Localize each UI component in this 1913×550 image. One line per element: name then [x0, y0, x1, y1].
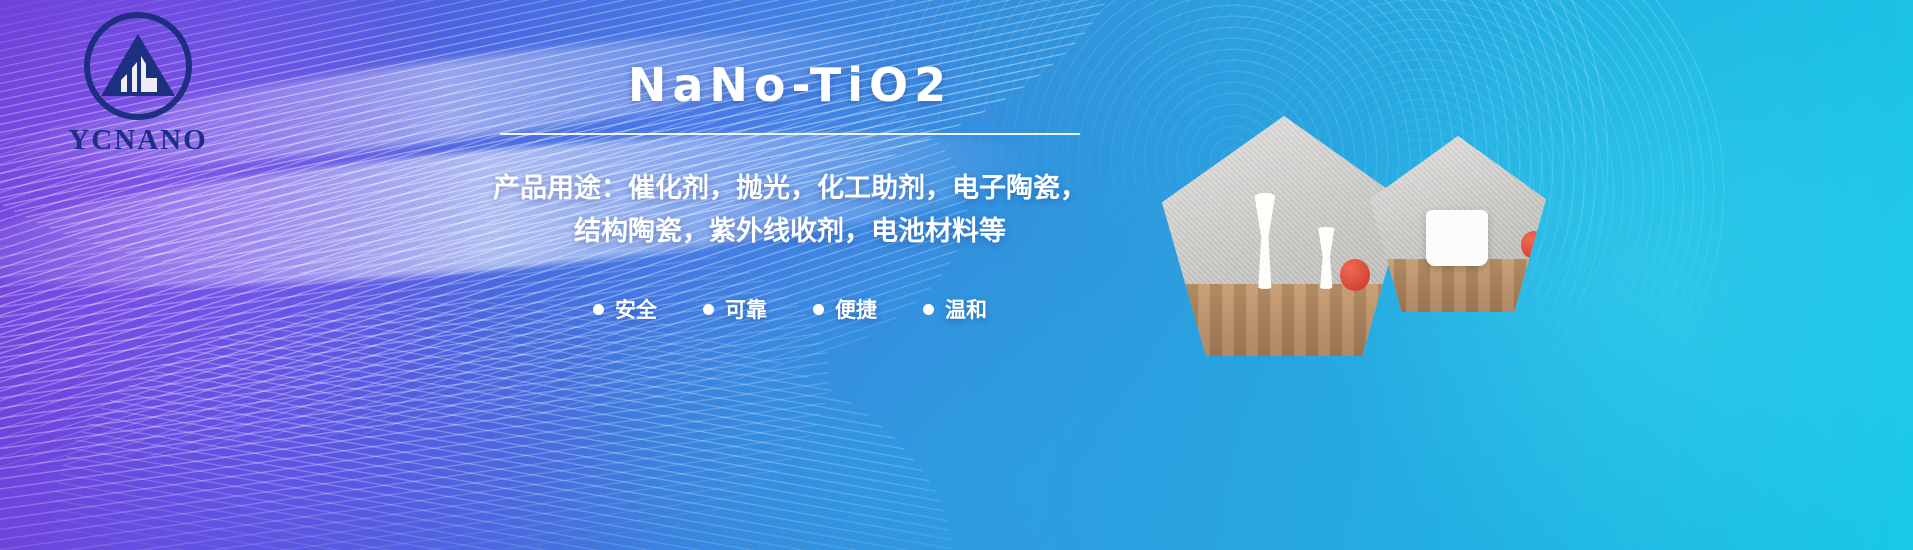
photo-floor [1370, 259, 1546, 312]
ceramic-jar [1426, 210, 1488, 266]
triangle-mountain-emblem-icon [101, 34, 175, 96]
feature-label: 可靠 [725, 294, 767, 324]
brand-name: YCNANO [48, 124, 228, 157]
dot-icon [593, 304, 604, 315]
description-line-2: 结构陶瓷，紫外线收剂，电池材料等 [470, 210, 1110, 254]
title-divider [500, 133, 1080, 135]
page-title: NaNo-TiO2 [470, 60, 1110, 111]
feature-label: 便捷 [835, 294, 877, 324]
photo-floor [1162, 284, 1406, 356]
red-fruit-decor [1521, 231, 1546, 259]
banner-content: NaNo-TiO2 产品用途：催化剂，抛光，化工助剂，电子陶瓷， 结构陶瓷，紫外… [470, 60, 1110, 324]
product-description: 产品用途：催化剂，抛光，化工助剂，电子陶瓷， 结构陶瓷，紫外线收剂，电池材料等 [470, 167, 1110, 254]
feature-item-1: 可靠 [703, 294, 767, 324]
dot-icon [703, 304, 714, 315]
feature-label: 安全 [615, 294, 657, 324]
brand-logo[interactable]: YCNANO [48, 12, 228, 162]
dot-icon [813, 304, 824, 315]
dot-icon [923, 304, 934, 315]
photo-backdrop [1162, 116, 1406, 284]
feature-item-2: 便捷 [813, 294, 877, 324]
logo-mark [84, 12, 192, 120]
feature-item-3: 温和 [923, 294, 987, 324]
feature-list: 安全 可靠 便捷 温和 [470, 294, 1110, 324]
product-photo-vases [1162, 116, 1406, 356]
feature-label: 温和 [945, 294, 987, 324]
feature-item-0: 安全 [593, 294, 657, 324]
product-banner: YCNANO NaNo-TiO2 产品用途：催化剂，抛光，化工助剂，电子陶瓷， … [0, 0, 1913, 550]
product-photo-jar [1370, 136, 1546, 312]
description-line-1: 产品用途：催化剂，抛光，化工助剂，电子陶瓷， [470, 167, 1110, 211]
